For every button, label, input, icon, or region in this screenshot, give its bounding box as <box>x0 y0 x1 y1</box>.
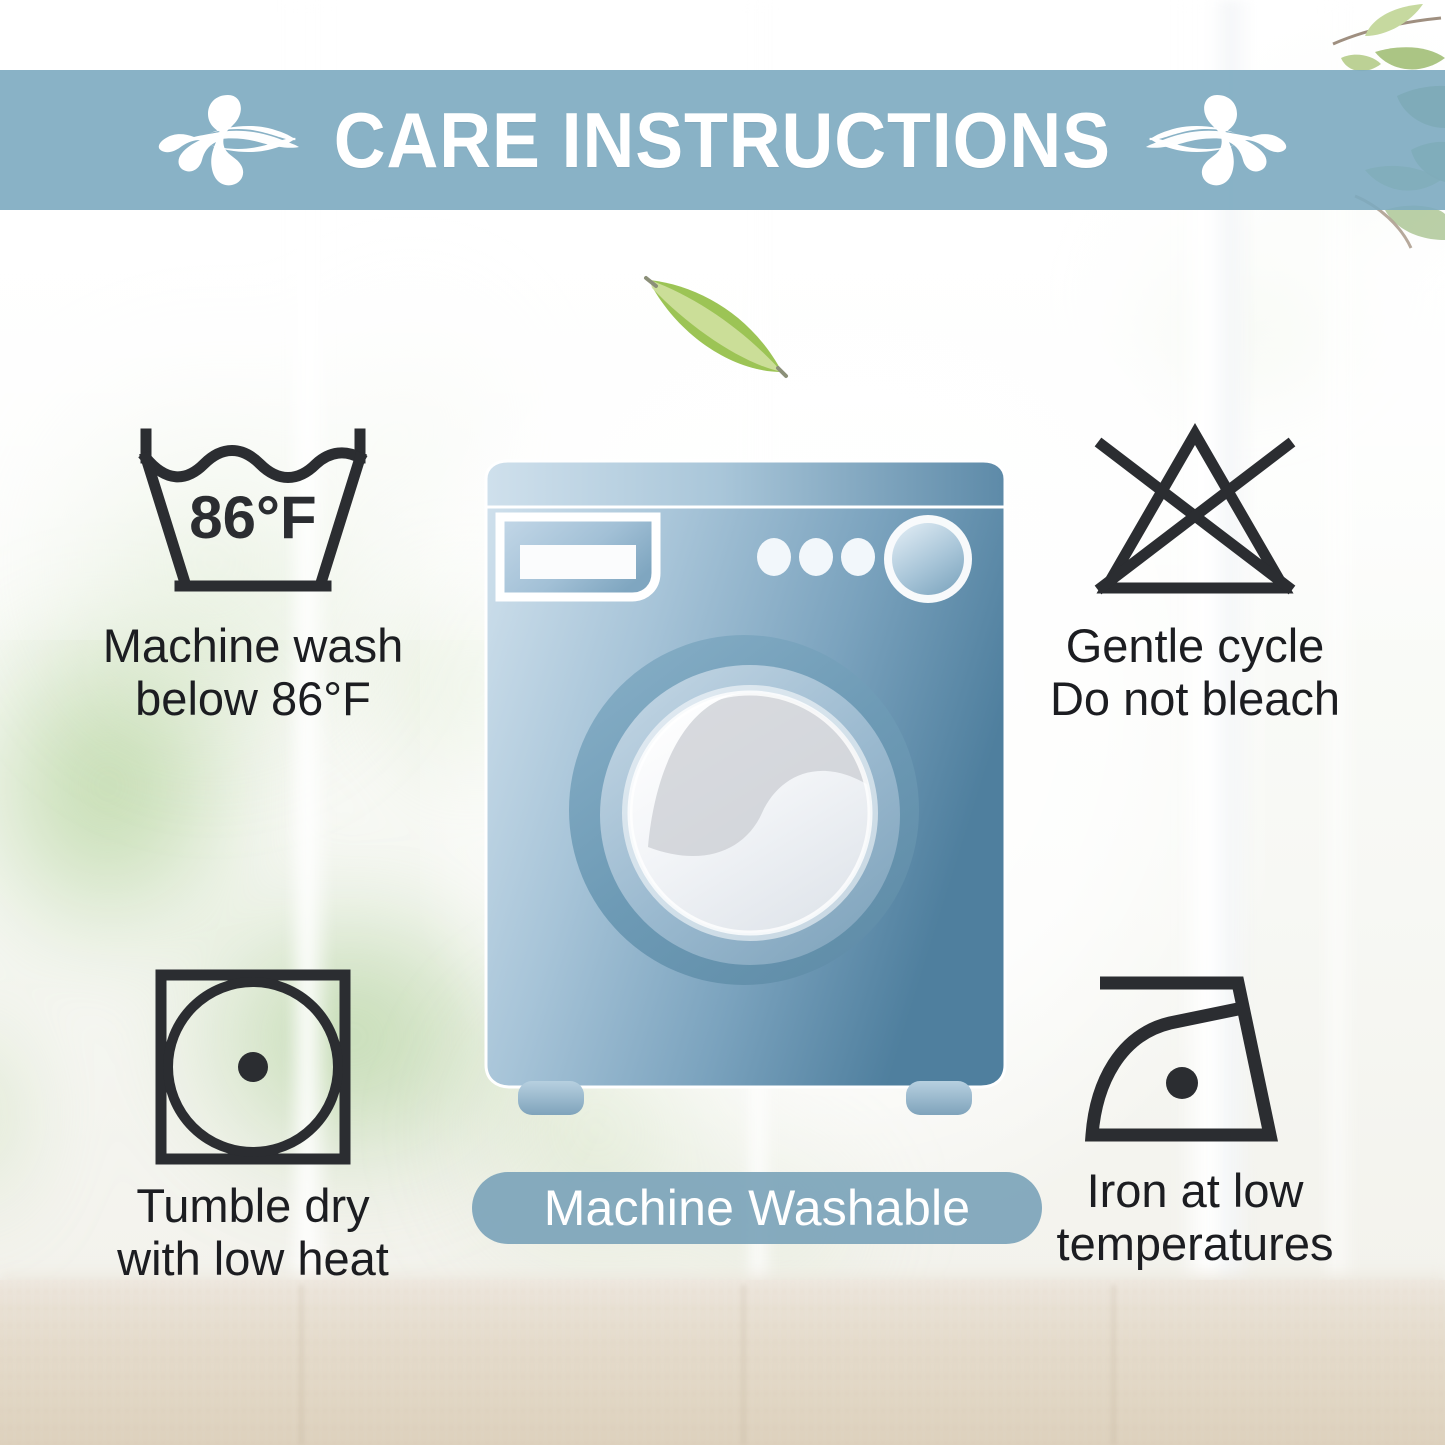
care-caption-do-not-bleach: Gentle cycle Do not bleach <box>960 620 1430 725</box>
wash-tub-icon-wrap: 86°F <box>18 420 488 610</box>
machine-top-panel <box>486 461 1005 507</box>
table-wood-grain <box>0 1280 1445 1445</box>
care-symbol-machine-wash: 86°F Machine wash below 86°F <box>18 420 488 725</box>
machine-foot-right <box>906 1081 972 1115</box>
care-caption-machine-wash: Machine wash below 86°F <box>18 620 488 725</box>
table-plank-seam-1 <box>300 1285 303 1445</box>
machine-foot-left <box>518 1081 584 1115</box>
washing-machine-illustration <box>478 455 1013 1125</box>
leaf-icon <box>640 268 820 388</box>
machine-washable-badge: Machine Washable <box>472 1172 1042 1244</box>
fleur-de-lis-icon <box>150 85 300 195</box>
wash-temperature-label: 86°F <box>189 484 316 551</box>
tumble-dry-low-icon-wrap <box>18 965 488 1170</box>
indicator-light-3[interactable] <box>841 538 875 576</box>
indicator-light-1[interactable] <box>757 538 791 576</box>
care-caption-tumble-dry-low: Tumble dry with low heat <box>18 1180 488 1285</box>
iron-low-icon <box>1070 965 1320 1155</box>
table-plank-seam-3 <box>1112 1285 1115 1445</box>
control-dial[interactable] <box>892 523 964 595</box>
header-banner: CARE INSTRUCTIONS <box>0 70 1445 210</box>
page-title: CARE INSTRUCTIONS <box>334 101 1111 179</box>
machine-washable-label: Machine Washable <box>544 1183 971 1233</box>
fleur-de-lis-icon <box>1145 85 1295 195</box>
indicator-light-2[interactable] <box>799 538 833 576</box>
wash-tub-icon: 86°F <box>128 420 378 610</box>
care-symbol-tumble-dry-low: Tumble dry with low heat <box>18 965 488 1285</box>
care-symbol-do-not-bleach: Gentle cycle Do not bleach <box>960 420 1430 725</box>
table-plank-seam-2 <box>742 1285 745 1445</box>
iron-low-icon-wrap <box>960 965 1430 1155</box>
crossed-triangle-icon-wrap <box>960 420 1430 610</box>
tumble-dry-low-icon <box>148 965 358 1170</box>
crossed-triangle-icon <box>1070 420 1320 610</box>
detergent-drawer-slot <box>520 545 636 579</box>
